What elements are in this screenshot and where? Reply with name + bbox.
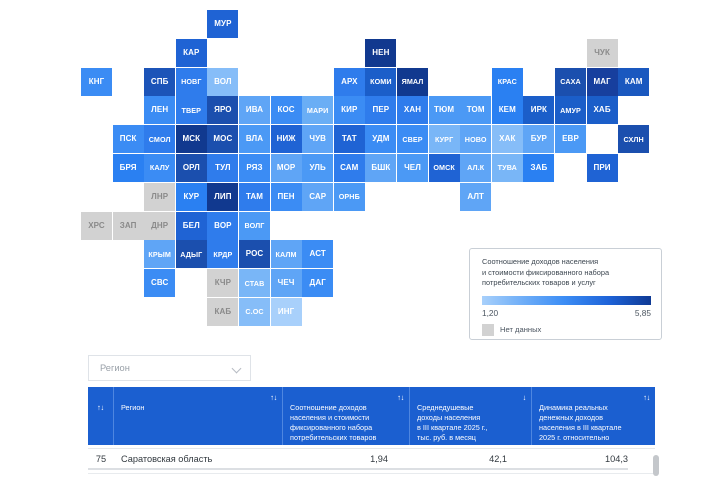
map-tile[interactable]: ТАМ (239, 183, 270, 211)
legend-nodata-entry: Нет данных (482, 324, 651, 336)
map-tile[interactable]: МАГ (587, 68, 618, 96)
regions-table: ↑↓ Регион ↑↓ Соотношение доходов населен… (88, 387, 655, 474)
map-tile[interactable]: КРДР (207, 240, 238, 268)
map-tile[interactable]: ЧЕЛ (397, 154, 428, 182)
map-tile[interactable]: КАЛУ (144, 154, 175, 182)
map-tile[interactable]: ОМСК (429, 154, 460, 182)
map-tile[interactable]: КРЫМ (144, 240, 175, 268)
map-tile[interactable]: МОС (207, 125, 238, 153)
map-tile[interactable]: ВОЛГ (239, 212, 270, 240)
legend-min-value: 1,20 (482, 308, 498, 318)
map-tile[interactable]: ХАН (397, 96, 428, 124)
map-tile[interactable]: НИЖ (271, 125, 302, 153)
map-tile[interactable]: АМУР (555, 96, 586, 124)
sort-toggle-region[interactable]: ↑↓ (270, 393, 277, 403)
map-tile[interactable]: ТАТ (334, 125, 365, 153)
filter-row: Регион (88, 355, 251, 381)
region-filter-select[interactable]: Регион (88, 355, 251, 381)
map-tile[interactable]: БУР (523, 125, 554, 153)
map-tile[interactable]: ПСК (113, 125, 144, 153)
column-header-dynamics[interactable]: Динамика реальных денежных доходов насел… (532, 387, 655, 445)
map-tile[interactable]: ТУЛ (207, 154, 238, 182)
map-tile[interactable]: МАРИ (302, 96, 333, 124)
map-tile[interactable]: ИРК (523, 96, 554, 124)
map-tile[interactable]: ТОМ (460, 96, 491, 124)
map-tile[interactable]: ПРИ (587, 154, 618, 182)
map-tile[interactable]: КОМИ (365, 68, 396, 96)
table-divider (88, 448, 655, 449)
map-tile[interactable]: КАР (176, 39, 207, 67)
map-tile[interactable]: ЗАП (113, 212, 144, 240)
map-tile[interactable]: КУРГ (429, 125, 460, 153)
map-tile[interactable]: БЕЛ (176, 212, 207, 240)
map-tile[interactable]: ЛИП (207, 183, 238, 211)
map-tile[interactable]: ЧУВ (302, 125, 333, 153)
map-tile[interactable]: АРХ (334, 68, 365, 96)
map-tile[interactable]: КАЛМ (271, 240, 302, 268)
map-tile[interactable]: ИНГ (271, 298, 302, 326)
map-tile[interactable]: САР (302, 183, 333, 211)
cell-income: 42,1 (410, 454, 532, 464)
map-tile[interactable]: КОС (271, 96, 302, 124)
legend-nodata-label: Нет данных (500, 325, 541, 334)
map-tile[interactable]: СМОЛ (144, 125, 175, 153)
map-tile[interactable]: НОВО (460, 125, 491, 153)
sort-toggle-dynamics[interactable]: ↑↓ (643, 393, 650, 403)
map-tile[interactable]: ЛЕН (144, 96, 175, 124)
cell-dynamics: 104,3 (532, 454, 655, 464)
legend-title: Соотношение доходов населения и стоимост… (482, 257, 651, 289)
column-header-dynamics-label: Динамика реальных денежных доходов насел… (539, 403, 622, 452)
chevron-down-icon (233, 364, 242, 373)
nodata-swatch-icon (482, 324, 494, 336)
map-tile[interactable]: ВОР (207, 212, 238, 240)
map-tile[interactable]: СВЕР (397, 125, 428, 153)
map-tile[interactable]: ЛНР (144, 183, 175, 211)
table-header-row: ↑↓ Регион ↑↓ Соотношение доходов населен… (88, 387, 655, 445)
legend-scale: 1,20 5,85 (482, 308, 651, 318)
map-tile[interactable]: ЗАБ (523, 154, 554, 182)
map-tile[interactable]: КАМ (618, 68, 649, 96)
visualization-page: МУРКАРНЕНЧУККНГСПБНОВГВОЛАРХКОМИЯМАЛКРАС… (0, 0, 720, 480)
column-header-ratio-label: Соотношение доходов населения и стоимост… (290, 403, 376, 452)
column-header-region-label: Регион (121, 403, 144, 412)
map-tile[interactable]: ЯМАЛ (397, 68, 428, 96)
map-tile[interactable]: ЧУК (587, 39, 618, 67)
map-tile[interactable]: КУР (176, 183, 207, 211)
map-tile[interactable]: СХЛН (618, 125, 649, 153)
map-tile[interactable]: РЯЗ (239, 154, 270, 182)
sort-toggle-rank[interactable]: ↑↓ (88, 403, 113, 413)
cell-ratio: 1,94 (283, 454, 410, 464)
map-tile[interactable]: БРЯ (113, 154, 144, 182)
map-tile[interactable]: НОВГ (176, 68, 207, 96)
sort-toggle-income[interactable]: ↓ (523, 393, 526, 403)
map-tile[interactable]: САМ (334, 154, 365, 182)
map-tile[interactable]: СПБ (144, 68, 175, 96)
map-tile[interactable]: МСК (176, 125, 207, 153)
legend-max-value: 5,85 (635, 308, 651, 318)
map-tile[interactable]: САХА (555, 68, 586, 96)
map-tile[interactable]: ПЕР (365, 96, 396, 124)
column-header-ratio[interactable]: Соотношение доходов населения и стоимост… (283, 387, 410, 445)
map-tile[interactable]: ОРЛ (176, 154, 207, 182)
map-tile[interactable]: ЧЕЧ (271, 269, 302, 297)
map-tile[interactable]: ХАК (492, 125, 523, 153)
map-tile[interactable]: МОР (271, 154, 302, 182)
column-header-region[interactable]: Регион ↑↓ (114, 387, 283, 445)
map-tile[interactable]: СВС (144, 269, 175, 297)
map-tile[interactable]: АЛ.К (460, 154, 491, 182)
map-tile[interactable]: ТЮМ (429, 96, 460, 124)
map-tile[interactable]: БШК (365, 154, 396, 182)
map-tile[interactable]: ИВА (239, 96, 270, 124)
map-tile[interactable]: ХАБ (587, 96, 618, 124)
map-tile[interactable]: МУР (207, 10, 238, 38)
map-legend: Соотношение доходов населения и стоимост… (469, 248, 662, 340)
column-header-income-label: Среднедушевые доходы населения в III ква… (417, 403, 488, 442)
map-tile[interactable]: КРАС (492, 68, 523, 96)
column-header-income[interactable]: Среднедушевые доходы населения в III ква… (410, 387, 532, 445)
map-tile[interactable]: РОС (239, 240, 270, 268)
sort-toggle-ratio[interactable]: ↑↓ (397, 393, 404, 403)
map-tile[interactable]: С.ОС (239, 298, 270, 326)
map-tile[interactable]: ДНР (144, 212, 175, 240)
vertical-scrollbar-thumb[interactable] (653, 455, 659, 476)
map-tile[interactable]: КЧР (207, 269, 238, 297)
map-tile[interactable]: ПЕН (271, 183, 302, 211)
map-tile[interactable]: ОРНБ (334, 183, 365, 211)
map-tile[interactable]: СТАВ (239, 269, 270, 297)
map-tile[interactable]: ТВЕР (176, 96, 207, 124)
cell-rank: 75 (88, 454, 114, 464)
horizontal-scrollbar[interactable] (88, 468, 628, 470)
map-tile[interactable]: АДЫГ (176, 240, 207, 268)
map-tile[interactable]: КИР (334, 96, 365, 124)
column-header-rank[interactable]: ↑↓ (88, 387, 114, 445)
map-tile[interactable]: НЕН (365, 39, 396, 67)
map-tile[interactable]: КНГ (81, 68, 112, 96)
map-tile[interactable]: ЯРО (207, 96, 238, 124)
cell-region: Саратовская область (114, 454, 283, 464)
map-tile[interactable]: ТУВА (492, 154, 523, 182)
map-tile[interactable]: ДАГ (302, 269, 333, 297)
region-filter-label: Регион (100, 363, 130, 373)
map-tile[interactable]: ЕВР (555, 125, 586, 153)
map-tile[interactable]: КЕМ (492, 96, 523, 124)
map-tile[interactable]: ХРС (81, 212, 112, 240)
map-tile[interactable]: УЛЬ (302, 154, 333, 182)
map-tile[interactable]: ВОЛ (207, 68, 238, 96)
map-tile[interactable]: АСТ (302, 240, 333, 268)
map-tile[interactable]: УДМ (365, 125, 396, 153)
legend-color-gradient (482, 296, 651, 305)
map-tile[interactable]: ВЛА (239, 125, 270, 153)
map-tile[interactable]: АЛТ (460, 183, 491, 211)
map-tile[interactable]: КАБ (207, 298, 238, 326)
